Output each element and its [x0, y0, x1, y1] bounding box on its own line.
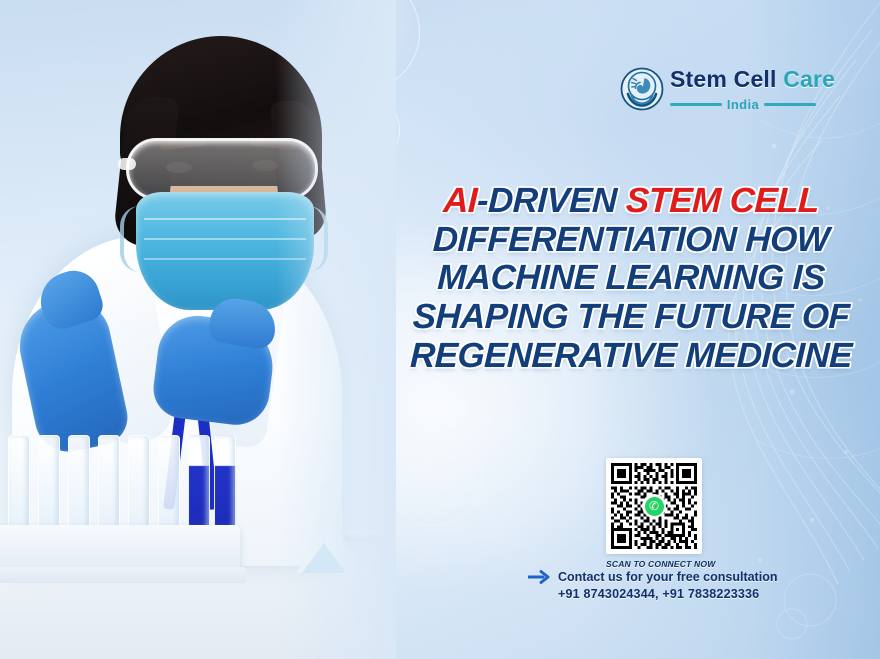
headline-line-2: DIFFERENTIATION HOW: [395, 221, 866, 260]
test-tube-filled: [188, 435, 210, 535]
scan-caption: SCAN TO CONNECT NOW: [606, 559, 702, 569]
brand-name-accent: Care: [783, 66, 835, 92]
contact-block[interactable]: Contact us for your free consultation +9…: [528, 570, 818, 601]
contact-row: Contact us for your free consultation: [528, 570, 818, 584]
mask-ear-loop-left: [120, 206, 142, 272]
goggles-strap: [118, 158, 136, 170]
test-tube-rack-base: [0, 567, 246, 583]
logo-rule-left: [670, 103, 722, 106]
brand-wordmark: Stem Cell Care: [670, 66, 835, 93]
brand-subtitle: India: [670, 94, 816, 114]
whatsapp-icon: ✆: [642, 494, 666, 518]
headline: AI-DRIVEN STEM CELL DIFFERENTIATION HOW …: [396, 182, 866, 375]
headline-stem-cell: STEM CELL: [625, 181, 819, 220]
brand-name-primary: Stem Cell: [670, 66, 777, 92]
photo-edge-fade: [276, 0, 396, 659]
test-tube: [158, 435, 180, 535]
brand-country: India: [727, 97, 759, 112]
headline-line-3: MACHINE LEARNING IS: [395, 259, 866, 298]
whatsapp-glyph: ✆: [645, 497, 664, 516]
test-tube-filled: [214, 435, 236, 535]
brand-logo[interactable]: Stem Cell Care India: [620, 64, 816, 118]
headline-line-1: AI-DRIVEN STEM CELL: [395, 182, 866, 221]
headline-driven: -DRIVEN: [476, 181, 626, 220]
logo-rule-right: [764, 103, 816, 106]
test-tube: [68, 435, 90, 535]
scientist-photo: [0, 0, 396, 659]
test-tube: [8, 435, 30, 535]
test-tube-rack: [0, 525, 240, 571]
qr-block[interactable]: ✆ SCAN TO CONNECT NOW: [606, 458, 702, 569]
qr-code[interactable]: ✆: [606, 458, 702, 554]
headline-ai: AI: [443, 181, 478, 220]
headline-line-4: SHAPING THE FUTURE OF: [395, 298, 866, 337]
contact-headline: Contact us for your free consultation: [558, 570, 777, 584]
stem-cell-embryo-hands-icon: [620, 67, 664, 111]
promo-poster: Stem Cell Care India AI-DRIVEN STEM CELL…: [0, 0, 880, 659]
test-tube: [98, 435, 120, 535]
arrow-right-icon: [528, 570, 550, 584]
test-tube: [38, 435, 60, 535]
headline-line-5: REGENERATIVE MEDICINE: [395, 337, 866, 376]
contact-phone-numbers[interactable]: +91 8743024344, +91 7838223336: [528, 587, 818, 601]
test-tube: [128, 435, 150, 535]
cell-blob-decoration: [386, 430, 482, 526]
